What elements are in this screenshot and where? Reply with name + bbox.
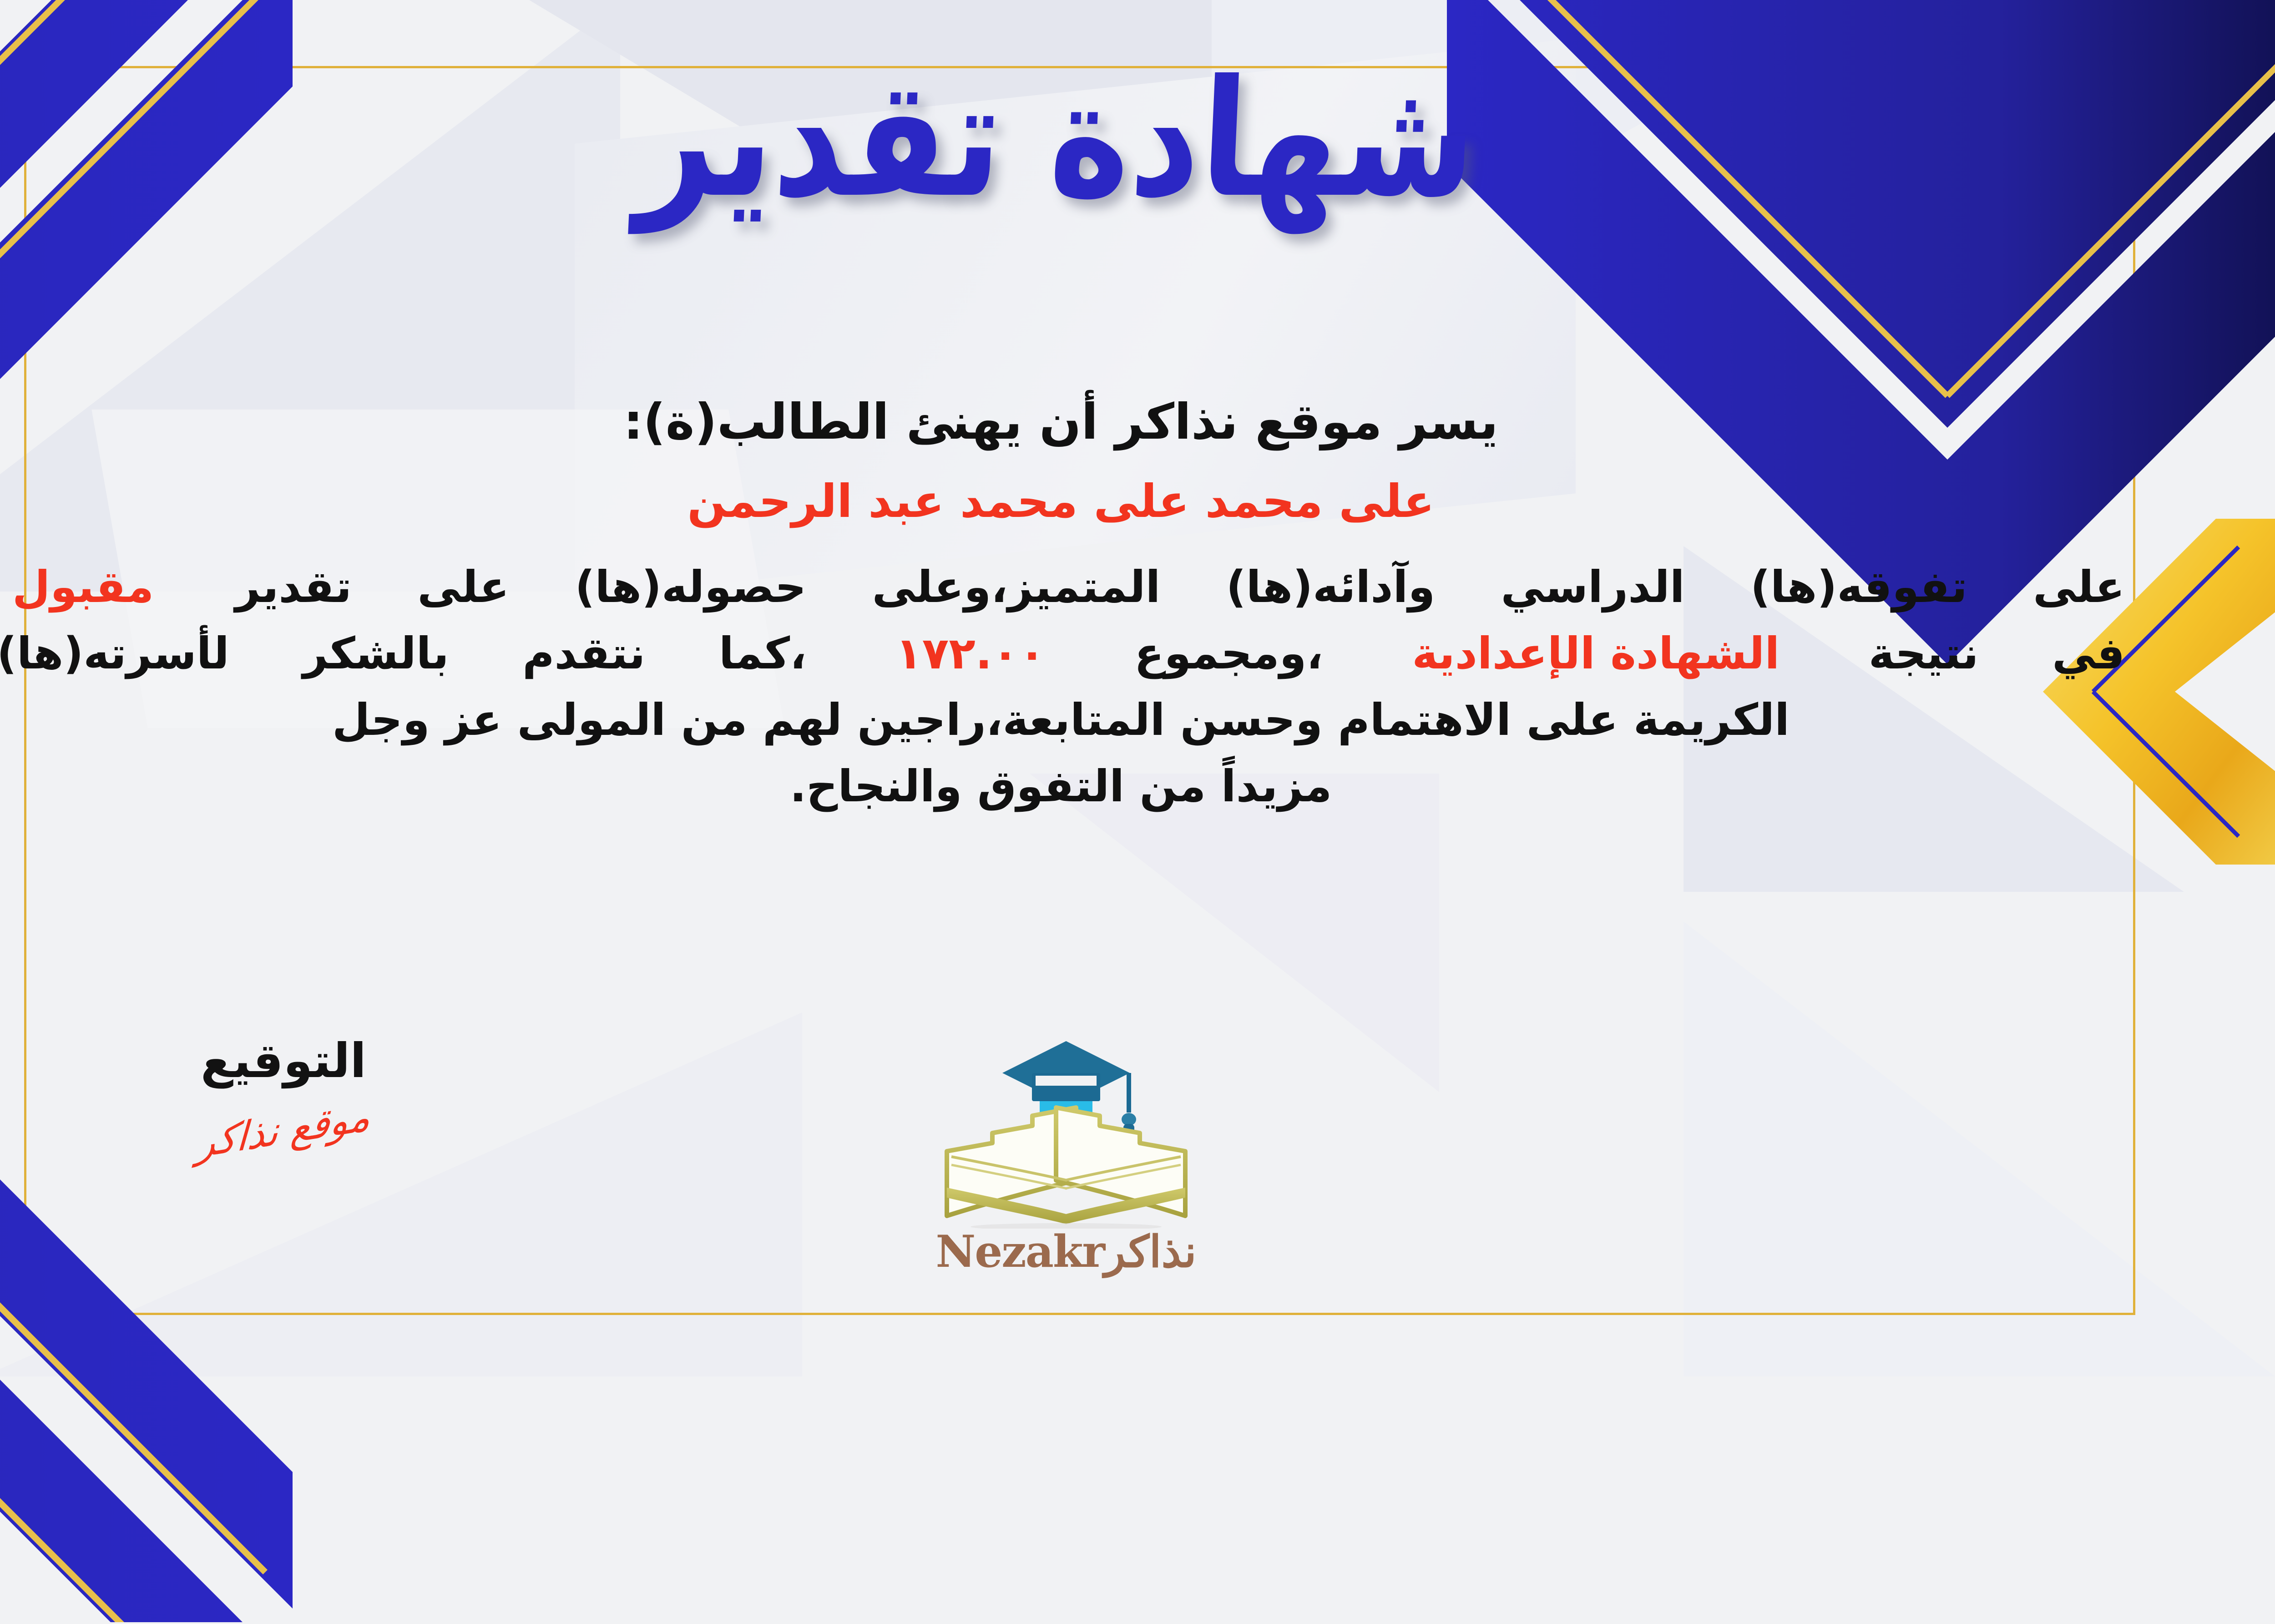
nezakr-logo: Nezakrنذاكر	[884, 1037, 1248, 1320]
grade-value: مقبول	[0, 554, 169, 621]
intro-line: يسر موقع نذاكر أن يهنئ الطالب(ة):	[0, 391, 2125, 453]
logo-latin-name: Nezakr	[935, 1226, 1104, 1277]
signature-block: التوقيع موقع نذاكر	[138, 1033, 429, 1153]
exam-prefix-text: في نتيجة	[1869, 628, 2125, 679]
achievement-paragraph: على تفوقه(ها) الدراسي وآدائه(ها) المتميز…	[0, 554, 2125, 820]
paragraph-line-4: مزيداً من التفوق والنجاح.	[0, 754, 2125, 820]
logo-arabic-name: نذاكر	[1104, 1226, 1196, 1277]
paragraph-line-2: في نتيجة الشهادة الإعدادية ،ومجموع ١٧٢.٠…	[0, 621, 2125, 687]
thanks-text: ،كما نتقدم بالشكر لأسرته(ها)	[0, 628, 807, 679]
exam-name-value: الشهادة الإعدادية	[1396, 621, 1795, 687]
paragraph-line-3: الكريمة على الاهتمام وحسن المتابعة،راجين…	[0, 687, 2125, 754]
certificate-body: يسر موقع نذاكر أن يهنئ الطالب(ة): على مح…	[0, 391, 2125, 820]
paragraph-line-1-text: على تفوقه(ها) الدراسي وآدائه(ها) المتميز…	[235, 562, 2125, 612]
logo-wordmark: Nezakrنذاكر	[884, 1226, 1248, 1277]
total-score-value: ١٧٢.٠٠	[880, 621, 1061, 687]
student-name: على محمد على محمد عبد الرحمن	[0, 475, 2125, 528]
graduate-book-icon	[939, 1037, 1193, 1229]
signature-label: التوقيع	[138, 1033, 429, 1088]
paragraph-line-1: على تفوقه(ها) الدراسي وآدائه(ها) المتميز…	[0, 554, 2125, 621]
signature-script: موقع نذاكر	[196, 1093, 372, 1167]
certificate-title: شهادة تقدير	[0, 55, 2275, 224]
total-prefix-text: ،ومجموع	[1134, 628, 1323, 679]
